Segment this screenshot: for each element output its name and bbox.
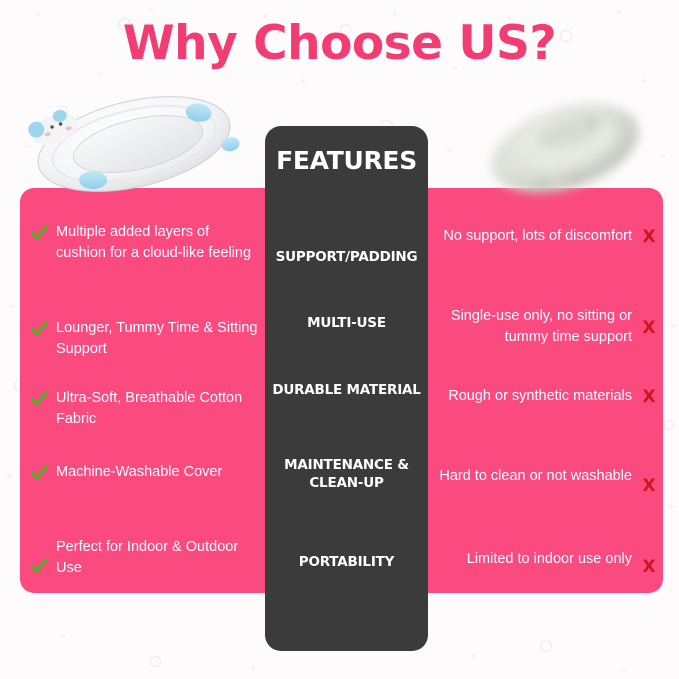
- con-text: Hard to clean or not washable: [439, 466, 632, 487]
- feature-row-durable-material: DURABLE MATERIAL: [271, 381, 422, 399]
- check-icon: [30, 390, 48, 408]
- pro-text: Perfect for Indoor & Outdoor Use: [56, 537, 260, 579]
- con-text: Limited to indoor use only: [467, 549, 632, 570]
- check-icon: [30, 557, 48, 575]
- feature-row-portability: PORTABILITY: [271, 553, 422, 571]
- pro-text: Multiple added layers of cushion for a c…: [56, 222, 260, 264]
- x-icon: X: [641, 227, 657, 247]
- our-product-image: [18, 82, 250, 202]
- competitor-product-image: [470, 86, 660, 206]
- con-row: No support, lots of discomfort X: [407, 226, 657, 247]
- con-text: Rough or synthetic materials: [448, 386, 632, 407]
- con-row: Rough or synthetic materials X: [407, 386, 657, 407]
- pro-text: Lounger, Tummy Time & Sitting Support: [56, 318, 260, 360]
- pro-row: Multiple added layers of cushion for a c…: [30, 222, 260, 264]
- feature-row-multi-use: MULTI-USE: [271, 314, 422, 332]
- page-title: Why Choose US?: [0, 16, 679, 71]
- check-icon: [30, 224, 48, 242]
- con-row: Single-use only, no sitting or tummy tim…: [407, 306, 657, 348]
- check-icon: [30, 320, 48, 338]
- con-text: Single-use only, no sitting or tummy tim…: [407, 306, 632, 348]
- x-icon: X: [641, 318, 657, 338]
- feature-row-support-padding: SUPPORT/PADDING: [271, 248, 422, 266]
- feature-row-maintenance-cleanup: MAINTENANCE & CLEAN-UP: [271, 456, 422, 492]
- x-icon: X: [641, 387, 657, 407]
- x-icon: X: [641, 476, 657, 496]
- con-row: Limited to indoor use only X: [407, 549, 657, 577]
- pro-row: Machine-Washable Cover: [30, 462, 260, 483]
- pro-row: Lounger, Tummy Time & Sitting Support: [30, 318, 260, 360]
- con-text: No support, lots of discomfort: [443, 226, 632, 247]
- pro-text: Machine-Washable Cover: [56, 462, 222, 483]
- x-icon: X: [641, 557, 657, 577]
- check-icon: [30, 464, 48, 482]
- features-panel: FEATURES SUPPORT/PADDING MULTI-USE DURAB…: [265, 126, 428, 651]
- pro-text: Ultra-Soft, Breathable Cotton Fabric: [56, 388, 260, 430]
- features-heading: FEATURES: [265, 146, 428, 175]
- pro-row: Ultra-Soft, Breathable Cotton Fabric: [30, 388, 260, 430]
- pro-row: Perfect for Indoor & Outdoor Use: [30, 537, 260, 579]
- con-row: Hard to clean or not washable X: [407, 466, 657, 496]
